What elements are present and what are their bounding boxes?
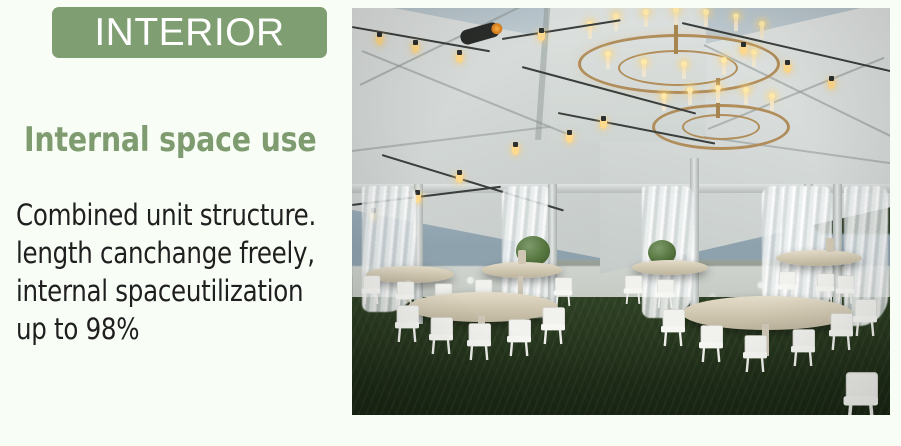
chandelier-candle xyxy=(770,98,774,111)
folding-chair xyxy=(656,279,675,308)
folding-chair xyxy=(362,275,381,304)
folding-chair xyxy=(844,372,879,415)
string-light-bulb xyxy=(828,80,835,89)
interior-badge-label: INTERIOR xyxy=(94,13,284,52)
chandelier-candle xyxy=(744,92,748,105)
folding-chair xyxy=(395,305,419,342)
chandelier-candle xyxy=(752,54,756,67)
banquet-table xyxy=(776,250,862,266)
string-light-bulb xyxy=(512,146,519,155)
chandelier-candle xyxy=(674,12,678,25)
folding-chair xyxy=(554,277,573,306)
folding-chair xyxy=(836,275,855,304)
chandelier-candle xyxy=(704,14,708,27)
section-heading: Internal space use xyxy=(24,122,317,159)
folding-chair xyxy=(743,335,767,372)
chandelier-candle xyxy=(688,92,692,105)
text-column: INTERIOR Internal space use Combined uni… xyxy=(0,0,352,446)
chandelier-candle xyxy=(606,56,610,69)
body-copy-line-1: Combined unit structure. xyxy=(16,196,332,234)
chandelier-candle xyxy=(642,64,646,77)
folding-chair xyxy=(816,273,835,302)
chandelier-candle xyxy=(588,26,592,39)
ring-chandelier-small-inner xyxy=(682,114,760,140)
folding-chair xyxy=(699,325,723,362)
chandelier-candle xyxy=(722,62,726,75)
folding-chair xyxy=(541,307,565,344)
interior-photo xyxy=(352,8,890,415)
folding-chair xyxy=(829,313,853,350)
chandelier-candle xyxy=(716,90,720,103)
chandelier-candle xyxy=(760,26,764,39)
folding-chair xyxy=(661,309,685,346)
string-light-bulb xyxy=(566,134,573,143)
folding-chair xyxy=(791,329,815,366)
folding-chair xyxy=(624,275,643,304)
string-light-bulb xyxy=(412,44,419,53)
chandelier-candle xyxy=(734,18,738,31)
tent-interior-scene xyxy=(352,8,890,415)
folding-chair xyxy=(467,323,491,360)
body-copy: Combined unit structure. length canchang… xyxy=(16,196,332,348)
string-light-bulb xyxy=(784,64,791,73)
body-copy-line-4: up to 98% xyxy=(16,310,332,348)
ring-chandelier-large-inner xyxy=(618,50,738,86)
table-vase xyxy=(518,250,526,264)
folding-chair xyxy=(507,319,531,356)
string-light-bulb xyxy=(376,36,383,45)
interior-badge: INTERIOR xyxy=(52,7,327,58)
string-light-bulb xyxy=(600,120,607,129)
tent-canopy-roof xyxy=(352,8,890,190)
string-light-bulb xyxy=(538,32,545,41)
table-vase xyxy=(826,238,834,252)
body-copy-line-3: internal spaceutilization xyxy=(16,272,332,310)
chandelier-candle xyxy=(682,66,686,79)
chandelier-candle xyxy=(644,14,648,27)
string-light-bulb xyxy=(456,174,463,183)
banquet-table xyxy=(632,260,708,275)
body-copy-line-2: length canchange freely, xyxy=(16,234,332,272)
folding-chair xyxy=(429,317,453,354)
string-light-bulb xyxy=(456,54,463,63)
folding-chair xyxy=(853,299,877,336)
string-light-bulb xyxy=(740,46,747,55)
